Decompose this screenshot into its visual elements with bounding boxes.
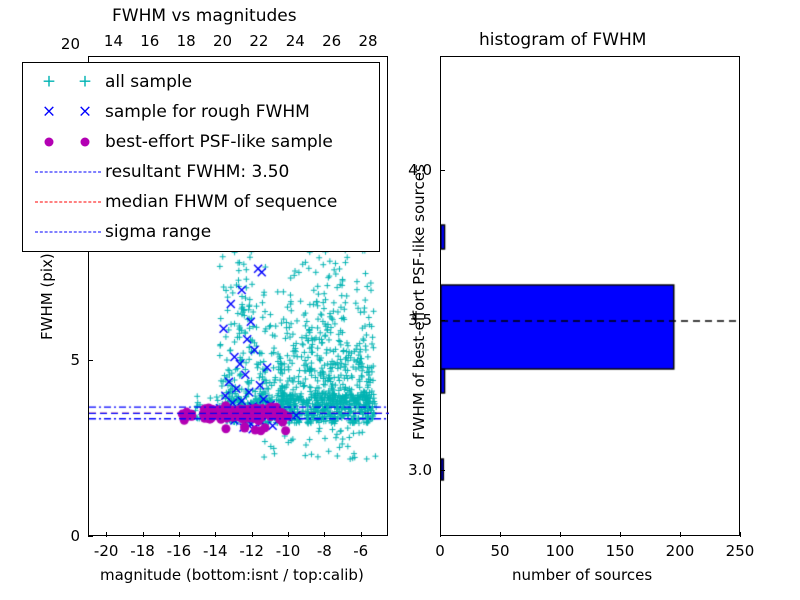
histogram-xlabel: number of sources — [512, 566, 652, 584]
scatter-top-xtick-label: 26 — [322, 32, 341, 50]
histogram-xtick — [440, 532, 441, 537]
scatter-ytick-label: 0 — [70, 527, 80, 545]
histogram-xtick-label: 0 — [435, 542, 445, 560]
scatter-xtick-label: -6 — [353, 542, 368, 560]
legend-marker-sample: ++ — [31, 67, 105, 97]
scatter-xtick — [106, 532, 107, 537]
histogram-xtick-label: 50 — [490, 542, 509, 560]
scatter-xtick — [252, 532, 253, 537]
scatter-top-xtick-label: 18 — [177, 32, 196, 50]
scatter-ytick — [88, 360, 93, 361]
scatter-top-xtick-label: 22 — [249, 32, 268, 50]
scatter-xlabel: magnitude (bottom:isnt / top:calib) — [100, 566, 364, 584]
legend-item-label: resultant FWHM: 3.50 — [105, 162, 289, 182]
legend-line-sample-icon — [35, 172, 101, 173]
legend-item: ××sample for rough FWHM — [23, 97, 379, 127]
legend-plus-marker-icon: + — [78, 74, 92, 91]
histogram-xtick-label: 150 — [606, 542, 635, 560]
histogram-xtick-label: 100 — [546, 542, 575, 560]
legend-plus-marker-icon: + — [42, 74, 56, 91]
scatter-xtick — [179, 532, 180, 537]
legend-line-sample — [31, 187, 105, 217]
scatter-xtick-label: -20 — [94, 542, 119, 560]
legend-item: median FHWM of sequence — [23, 187, 379, 217]
histogram-title: histogram of FWHM — [479, 30, 646, 50]
scatter-xtick-label: -18 — [130, 542, 155, 560]
legend-item: best-effort PSF-like sample — [23, 127, 379, 157]
legend-cross-marker-icon: × — [78, 104, 92, 121]
legend-item: sigma range — [23, 217, 379, 247]
legend-item-label: sample for rough FWHM — [105, 102, 310, 122]
histogram-ytick — [440, 320, 445, 321]
scatter-xtick — [324, 532, 325, 537]
scatter-xtick-label: -12 — [239, 542, 264, 560]
scatter-ytick — [88, 536, 93, 537]
scatter-top-xtick-label: 14 — [104, 32, 123, 50]
scatter-ytick-label: 5 — [70, 351, 80, 369]
histogram-xtick-label: 200 — [666, 542, 695, 560]
scatter-xtick — [288, 532, 289, 537]
scatter-top-xtick-label: 24 — [286, 32, 305, 50]
figure-canvas: FWHM vs magnitudes 141618202224262820 -2… — [0, 0, 800, 600]
scatter-top-xtick-label: 20 — [213, 32, 232, 50]
histogram-ytick — [440, 170, 445, 171]
histogram-xtick — [680, 532, 681, 537]
histogram-ytick-label: 3.0 — [408, 461, 432, 479]
histogram-ytick — [440, 470, 445, 471]
legend-item: ++all sample — [23, 67, 379, 97]
legend-cross-marker-icon: × — [42, 104, 56, 121]
legend-item-label: sigma range — [105, 222, 211, 242]
legend-item: resultant FWHM: 3.50 — [23, 157, 379, 187]
legend-marker-sample: ×× — [31, 97, 105, 127]
legend-line-sample-icon — [35, 202, 101, 203]
histogram-ylabel: FWHM of best-effort PSF-like sources — [410, 164, 428, 440]
legend-dot-marker-icon — [45, 138, 54, 147]
legend-item-label: best-effort PSF-like sample — [105, 132, 333, 152]
histogram-axes — [440, 56, 740, 536]
scatter-xtick — [215, 532, 216, 537]
legend-item-label: all sample — [105, 72, 192, 92]
histogram-xtick — [620, 532, 621, 537]
legend-item-label: median FHWM of sequence — [105, 192, 337, 212]
scatter-xtick-label: -10 — [276, 542, 301, 560]
histogram-xtick — [740, 532, 741, 537]
legend: ++all sample××sample for rough FWHMbest-… — [22, 62, 380, 252]
scatter-top-ytick-label: 20 — [61, 35, 80, 53]
scatter-xtick-label: -14 — [203, 542, 228, 560]
scatter-xtick — [361, 532, 362, 537]
legend-marker-sample — [31, 127, 105, 157]
legend-line-sample — [31, 217, 105, 247]
histogram-xtick — [500, 532, 501, 537]
histogram-xtick-label: 250 — [726, 542, 755, 560]
scatter-xtick — [143, 532, 144, 537]
scatter-top-xtick-label: 16 — [140, 32, 159, 50]
scatter-top-xtick-label: 28 — [358, 32, 377, 50]
legend-dot-marker-icon — [81, 138, 90, 147]
scatter-xtick-label: -8 — [317, 542, 332, 560]
scatter-ylabel: FWHM (pix) — [38, 253, 56, 340]
histogram-data-layer — [441, 57, 741, 537]
histogram-xtick — [560, 532, 561, 537]
legend-line-sample — [31, 157, 105, 187]
scatter-title: FWHM vs magnitudes — [112, 6, 297, 26]
scatter-xtick-label: -16 — [167, 542, 192, 560]
legend-line-sample-icon — [35, 232, 101, 233]
